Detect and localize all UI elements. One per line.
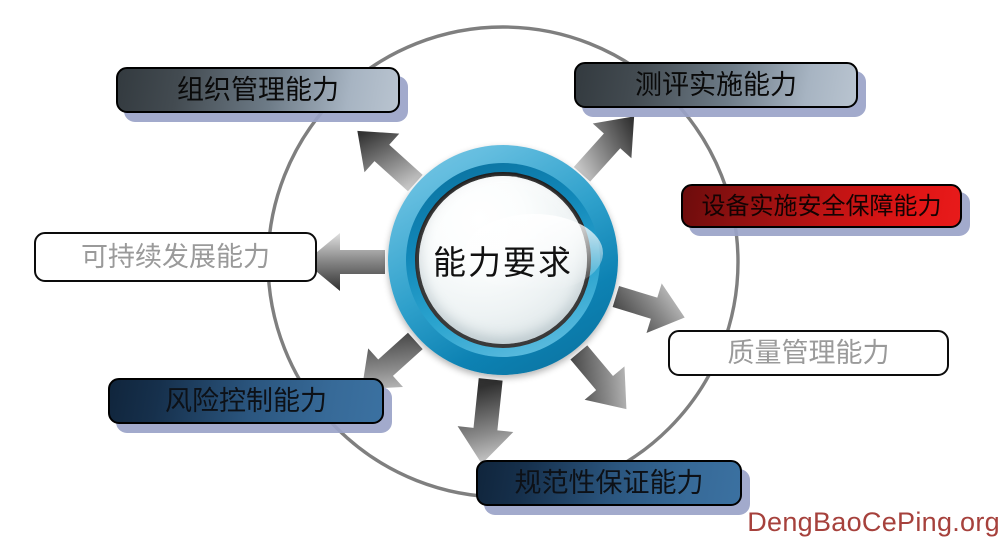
hub-face: 能力要求 (419, 176, 587, 344)
arrow-to-normative-assurance (454, 376, 519, 466)
node-quality-management[interactable]: 质量管理能力 (668, 330, 949, 376)
node-risk-control[interactable]: 风险控制能力 (108, 378, 384, 424)
node-normative-assurance[interactable]: 规范性保证能力 (476, 460, 742, 506)
center-hub: 能力要求 (388, 145, 618, 375)
arrow-to-sustainable-development (305, 233, 385, 291)
node-label-equipment-security: 设备实施安全保障能力 (702, 194, 942, 218)
node-label-risk-control: 风险控制能力 (165, 388, 327, 415)
center-label: 能力要求 (433, 236, 573, 284)
node-label-organization-management: 组织管理能力 (177, 77, 339, 104)
node-sustainable-development[interactable]: 可持续发展能力 (34, 232, 317, 282)
node-equipment-security[interactable]: 设备实施安全保障能力 (681, 184, 962, 228)
node-label-assessment-implementation: 测评实施能力 (635, 72, 797, 99)
diagram-canvas: 能力要求 组织管理能力 测评实施能力 设备实施安全保障能力 质量管理能力 规范性… (0, 0, 1006, 540)
node-label-quality-management: 质量管理能力 (728, 340, 890, 367)
node-label-normative-assurance: 规范性保证能力 (515, 470, 704, 497)
node-assessment-implementation[interactable]: 测评实施能力 (574, 62, 858, 108)
node-organization-management[interactable]: 组织管理能力 (116, 67, 400, 113)
watermark-text: DengBaoCePing.org (747, 507, 1000, 538)
node-label-sustainable-development: 可持续发展能力 (81, 244, 270, 271)
